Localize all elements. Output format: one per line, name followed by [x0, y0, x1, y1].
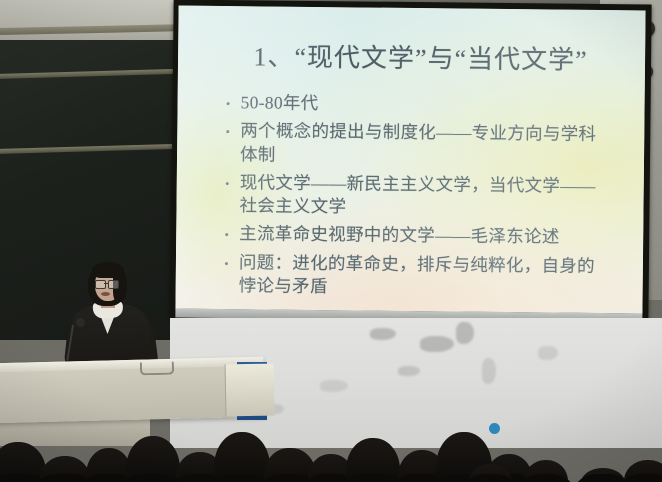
audience-head [40, 456, 90, 482]
wall-smudge [456, 322, 474, 344]
slide-bullet-list: 50-80年代 两个概念的提出与制度化——专业方向与学科体制 现代文学——新民主… [224, 91, 631, 301]
slide-title: 1、“现代文学”与“当代文学” [210, 36, 631, 77]
microphone-icon [76, 318, 85, 327]
audience-head [0, 442, 46, 482]
wall-smudge [420, 336, 454, 352]
wall-smudge [398, 366, 420, 376]
slide-content: 1、“现代文学”与“当代文学” 50-80年代 两个概念的提出与制度化——专业方… [175, 6, 645, 314]
projection-screen: 1、“现代文学”与“当代文学” 50-80年代 两个概念的提出与制度化——专业方… [170, 0, 651, 322]
slide-bullet-item: 两个概念的提出与制度化——专业方向与学科体制 [225, 119, 610, 170]
wall-smudge [370, 328, 396, 340]
hair-clip [489, 423, 500, 434]
audience-head [346, 438, 400, 482]
audience-head [126, 436, 180, 482]
lectern-handle [140, 362, 174, 376]
audience-head [214, 432, 270, 482]
audience-head [524, 460, 568, 482]
slide-bullet-item: 50-80年代 [225, 91, 610, 118]
audience [0, 400, 662, 482]
wall-smudge [320, 380, 348, 392]
lecturer-mouth [101, 292, 110, 296]
slide-bullet-item: 问题：进化的革命史，排斥与纯粹化，自身的悖论与矛盾 [224, 251, 609, 302]
wall-smudge [538, 346, 558, 360]
glasses-icon [95, 280, 120, 287]
projection-screen-surface: 1、“现代文学”与“当代文学” 50-80年代 两个概念的提出与制度化——专业方… [175, 6, 645, 314]
audience-head [624, 460, 662, 482]
slide-bullet-item: 现代文学——新民主主义文学，当代文学——社会主义文学 [224, 171, 609, 222]
slide-bullet-item: 主流革命史视野中的文学——毛泽东论述 [224, 222, 609, 249]
audience-head [580, 468, 626, 482]
lecture-hall-photo: 1、“现代文学”与“当代文学” 50-80年代 两个概念的提出与制度化——专业方… [0, 0, 662, 482]
wall-smudge [482, 358, 496, 384]
